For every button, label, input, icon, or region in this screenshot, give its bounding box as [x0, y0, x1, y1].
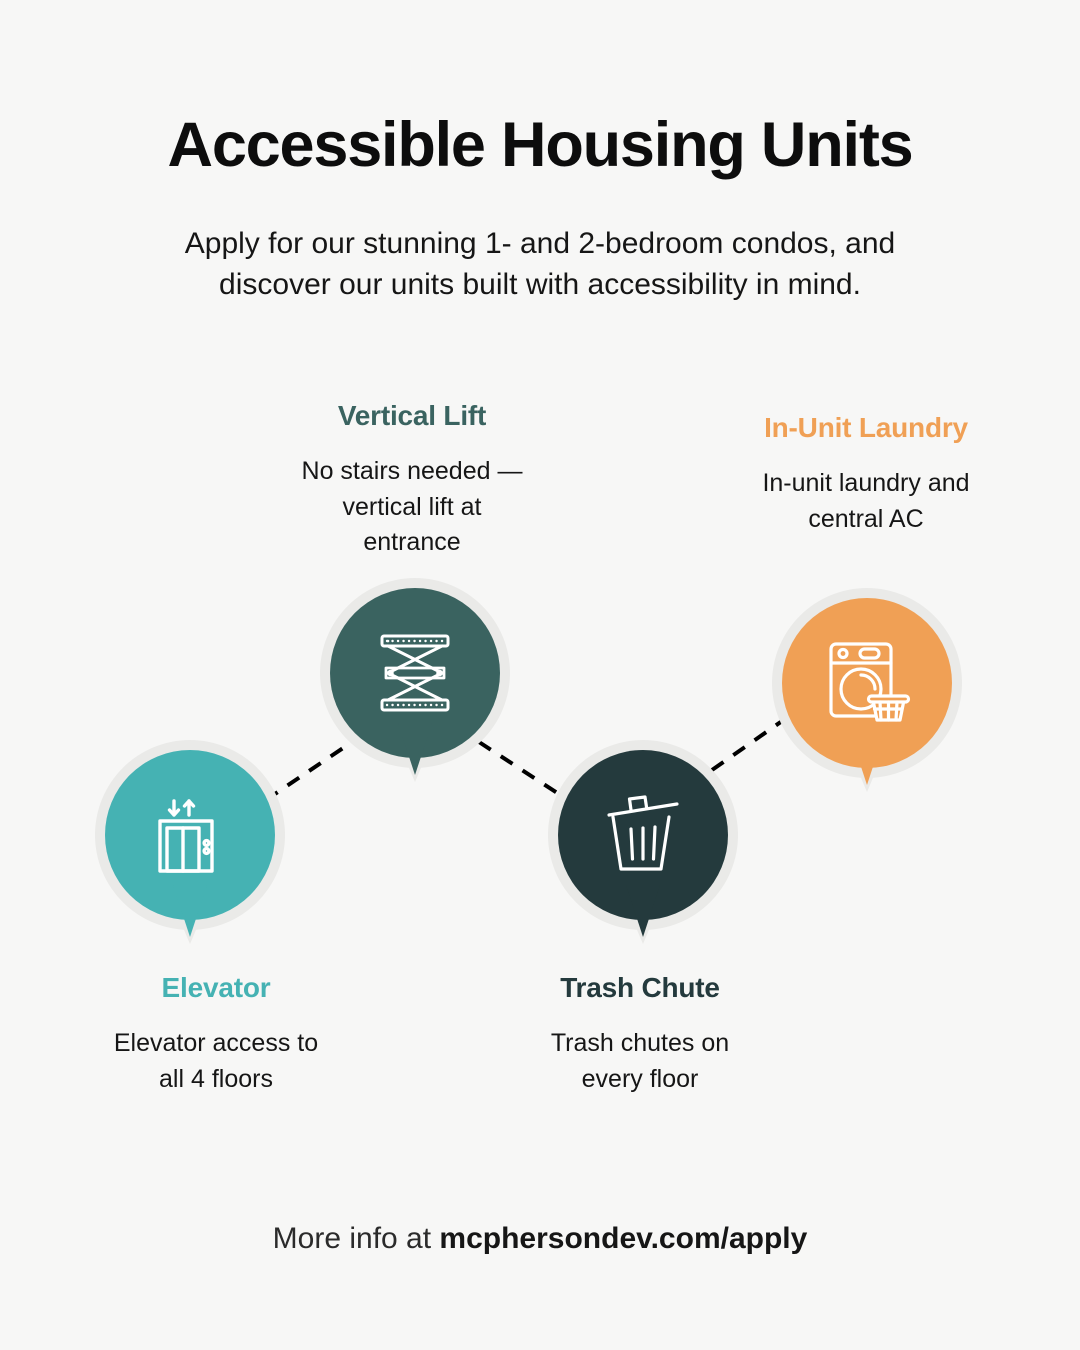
label-trash-chute: Trash Chute Trash chutes on every floor [470, 972, 810, 1097]
trash-can-icon [558, 750, 728, 920]
feature-description: In-unit laundry and central AC [700, 466, 1032, 537]
desc-line-1: No stairs needed — [238, 454, 586, 490]
pin-trash-chute[interactable] [548, 740, 738, 958]
desc-line-1: Trash chutes on [470, 1026, 810, 1062]
desc-line-2: all 4 floors [30, 1062, 402, 1098]
desc-line-2: every floor [470, 1062, 810, 1098]
desc-line-1: In-unit laundry and [700, 466, 1032, 502]
feature-map [0, 0, 1080, 1350]
washing-machine-icon [782, 598, 952, 768]
elevator-icon [105, 750, 275, 920]
feature-heading: Elevator [30, 972, 402, 1004]
pin-in-unit-laundry[interactable] [772, 588, 962, 806]
footer-prefix: More info at [273, 1222, 440, 1255]
desc-line-1: Elevator access to [30, 1026, 402, 1062]
pin-elevator[interactable] [95, 740, 285, 958]
feature-heading: In-Unit Laundry [700, 412, 1032, 444]
footer: More info at mcphersondev.com/apply [0, 1222, 1080, 1256]
desc-line-2: central AC [700, 502, 1032, 538]
footer-url[interactable]: mcphersondev.com/apply [439, 1222, 807, 1255]
feature-description: No stairs needed — vertical lift at entr… [238, 454, 586, 561]
feature-description: Trash chutes on every floor [470, 1026, 810, 1097]
label-elevator: Elevator Elevator access to all 4 floors [30, 972, 402, 1097]
scissor-lift-icon [330, 588, 500, 758]
label-in-unit-laundry: In-Unit Laundry In-unit laundry and cent… [700, 412, 1032, 537]
pin-vertical-lift[interactable] [320, 578, 510, 796]
feature-heading: Vertical Lift [238, 400, 586, 432]
desc-line-2: vertical lift at [238, 490, 586, 526]
label-vertical-lift: Vertical Lift No stairs needed — vertica… [238, 400, 586, 561]
desc-line-3: entrance [238, 525, 586, 561]
feature-description: Elevator access to all 4 floors [30, 1026, 402, 1097]
feature-heading: Trash Chute [470, 972, 810, 1004]
